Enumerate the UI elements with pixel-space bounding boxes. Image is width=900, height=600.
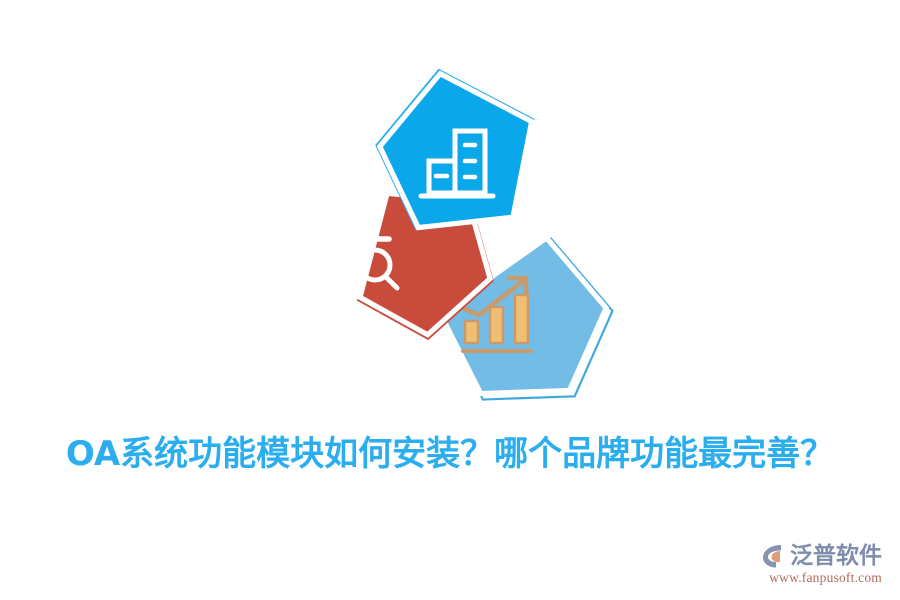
- watermark-brand-text: 泛普软件: [790, 543, 882, 569]
- page-title: OA系统功能模块如何安装？哪个品牌功能最完善？: [0, 432, 900, 476]
- watermark-logo: 泛普软件 www.fanpusoft.com: [761, 543, 882, 586]
- fanpu-logo-icon: [761, 543, 787, 569]
- watermark-url-text: www.fanpusoft.com: [769, 570, 882, 586]
- image-canvas: OA系统功能模块如何安装？哪个品牌功能最完善？ 泛普软件 www.fanpuso…: [0, 0, 900, 600]
- pentagon-cluster-illustration: [255, 55, 635, 425]
- watermark-brand-row: 泛普软件: [761, 543, 882, 569]
